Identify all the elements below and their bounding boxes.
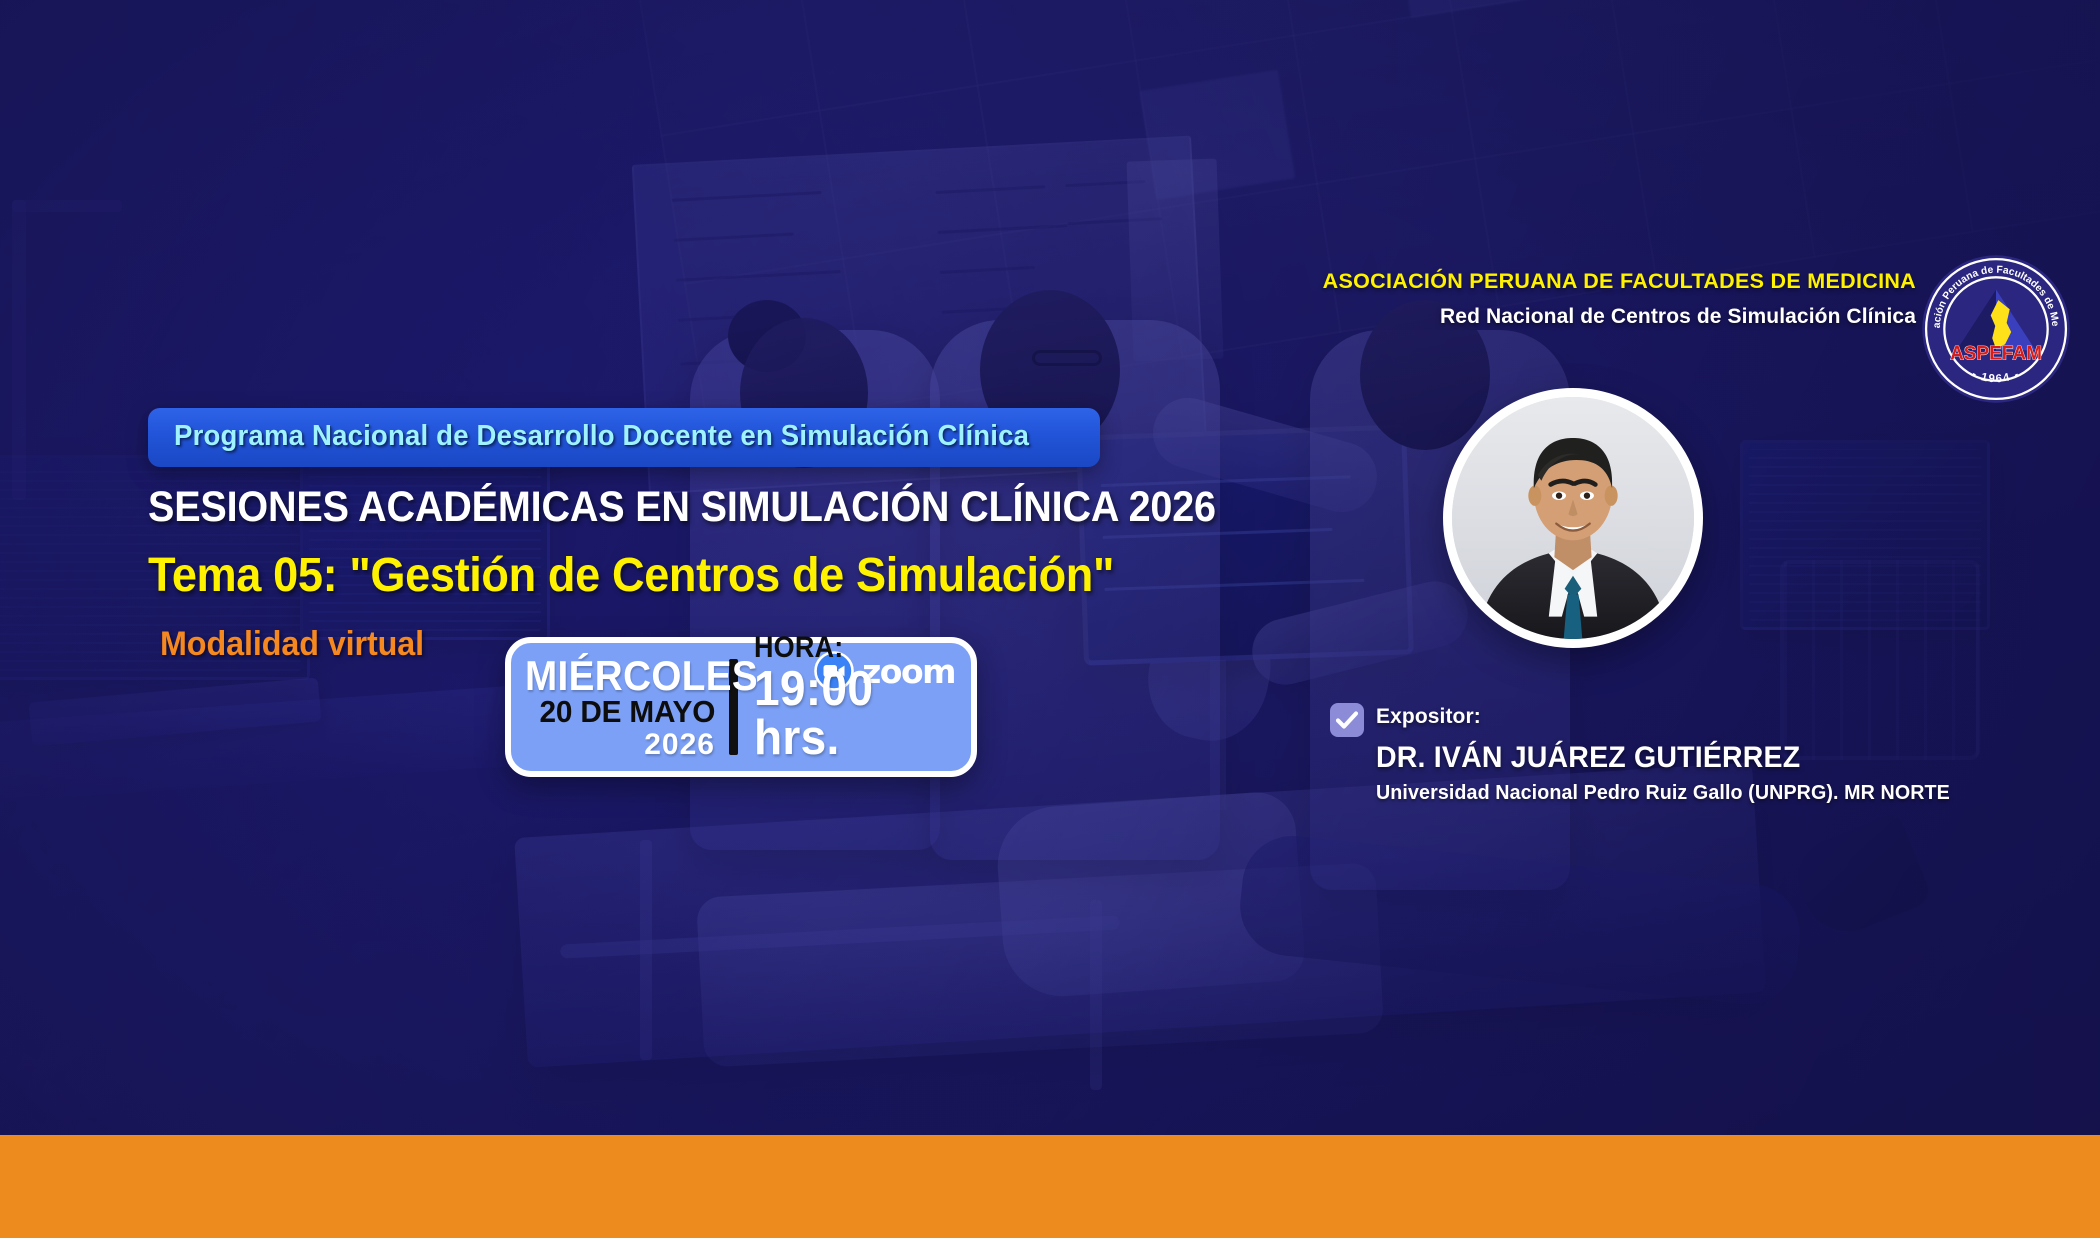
speaker-label: Expositor: <box>1376 700 1481 729</box>
org-title: ASOCIACIÓN PERUANA DE FACULTADES DE MEDI… <box>1323 268 1916 296</box>
bottom-accent-bar <box>0 1135 2100 1238</box>
poster-canvas: ASOCIACIÓN PERUANA DE FACULTADES DE MEDI… <box>0 0 2100 1238</box>
checkbox-checked-icon <box>1330 703 1364 737</box>
event-title: SESIONES ACADÉMICAS EN SIMULACIÓN CLÍNIC… <box>148 483 1216 532</box>
badge-date-section: MIÉRCOLES 20 DE MAYO 2026 <box>511 643 729 771</box>
speaker-info: Expositor: DR. IVÁN JUÁREZ GUTIÉRREZ Uni… <box>1330 700 1930 805</box>
badge-date: 20 DE MAYO <box>533 696 719 729</box>
badge-day-of-week: MIÉRCOLES <box>525 656 703 696</box>
program-pill: Programa Nacional de Desarrollo Docente … <box>148 408 1100 467</box>
modality-label: Modalidad virtual <box>160 625 424 664</box>
program-pill-label: Programa Nacional de Desarrollo Docente … <box>174 420 1029 453</box>
aspefam-logo: Asociación Peruana de Facultades de Medi… <box>1920 253 2072 405</box>
badge-hour-label: HORA: <box>754 633 937 663</box>
org-subtitle: Red Nacional de Centros de Simulación Cl… <box>1323 304 1916 331</box>
badge-time-section: zoom HORA: 19:00 hrs. <box>738 643 971 771</box>
date-time-badge: MIÉRCOLES 20 DE MAYO 2026 zoom HORA: 19:… <box>505 637 977 777</box>
speaker-portrait <box>1443 388 1703 648</box>
badge-year: 2026 <box>525 729 719 761</box>
photo-vignette <box>0 0 2100 1238</box>
svg-text:ASPEFAM: ASPEFAM <box>1950 343 2042 364</box>
topic-title: Tema 05: "Gestión de Centros de Simulaci… <box>148 548 1114 603</box>
speaker-name: DR. IVÁN JUÁREZ GUTIÉRREZ <box>1376 741 1902 775</box>
badge-time: 19:00 hrs. <box>754 665 945 763</box>
organization-header: ASOCIACIÓN PERUANA DE FACULTADES DE MEDI… <box>1323 268 1916 330</box>
speaker-affiliation: Universidad Nacional Pedro Ruiz Gallo (U… <box>1376 781 1908 805</box>
background-photo-simulation-lab <box>0 0 2100 1238</box>
